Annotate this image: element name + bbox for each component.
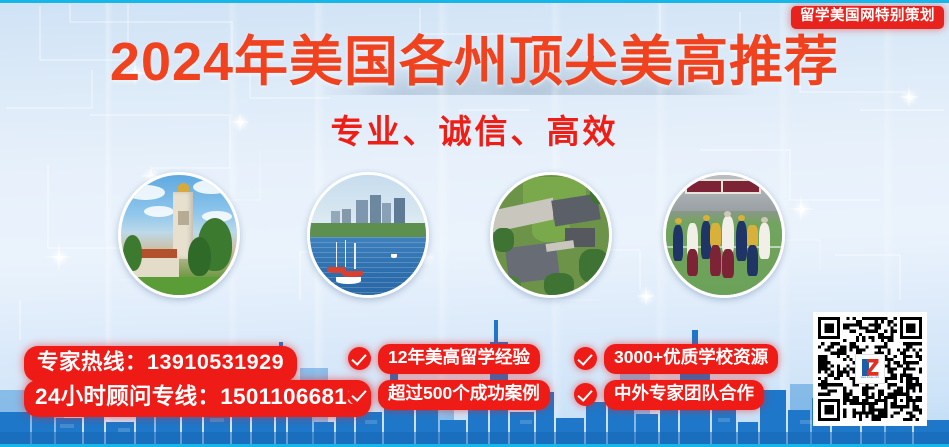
qr-center-logo: www.liuxue.com: [855, 354, 885, 384]
check-icon: [574, 383, 597, 406]
sparkle-icon: [898, 86, 920, 108]
promo-banner: 留学美国网特别策划 2024年美国各州顶尖美高推荐 专业、诚信、高效: [0, 0, 949, 447]
campaign-badge: 留学美国网特别策划: [791, 6, 944, 29]
hotline-24h-advisor[interactable]: 24小时顾问专线：15011066813: [24, 380, 371, 417]
qr-logo-url: www.liuxue.com: [861, 377, 880, 379]
page-title: 2024年美国各州顶尖美高推荐: [0, 35, 949, 89]
photo-football-game: [663, 172, 785, 298]
feature-label: 12年美高留学经验: [378, 344, 540, 374]
qr-code[interactable]: www.liuxue.com: [813, 312, 927, 426]
feature-label: 3000+优质学校资源: [604, 344, 778, 374]
feature-item: 超过500个成功案例: [348, 380, 550, 410]
feature-label: 中外专家团队合作: [604, 380, 764, 410]
photo-aerial-campus: [490, 172, 612, 298]
check-icon: [574, 347, 597, 370]
photo-campus-bell-tower: [118, 172, 240, 298]
feature-item: 中外专家团队合作: [574, 380, 764, 410]
feature-item: 12年美高留学经验: [348, 344, 540, 374]
brand-z-icon: [862, 359, 879, 376]
photo-waterfront-skyline: [307, 172, 429, 298]
check-icon: [348, 347, 371, 370]
photo-gallery: [0, 172, 949, 300]
hotline-expert[interactable]: 专家热线：13910531929: [24, 346, 297, 382]
feature-item: 3000+优质学校资源: [574, 344, 778, 374]
check-icon: [348, 383, 371, 406]
page-subtitle: 专业、诚信、高效: [0, 115, 949, 148]
feature-label: 超过500个成功案例: [378, 380, 550, 410]
top-accent-line: [0, 0, 949, 3]
